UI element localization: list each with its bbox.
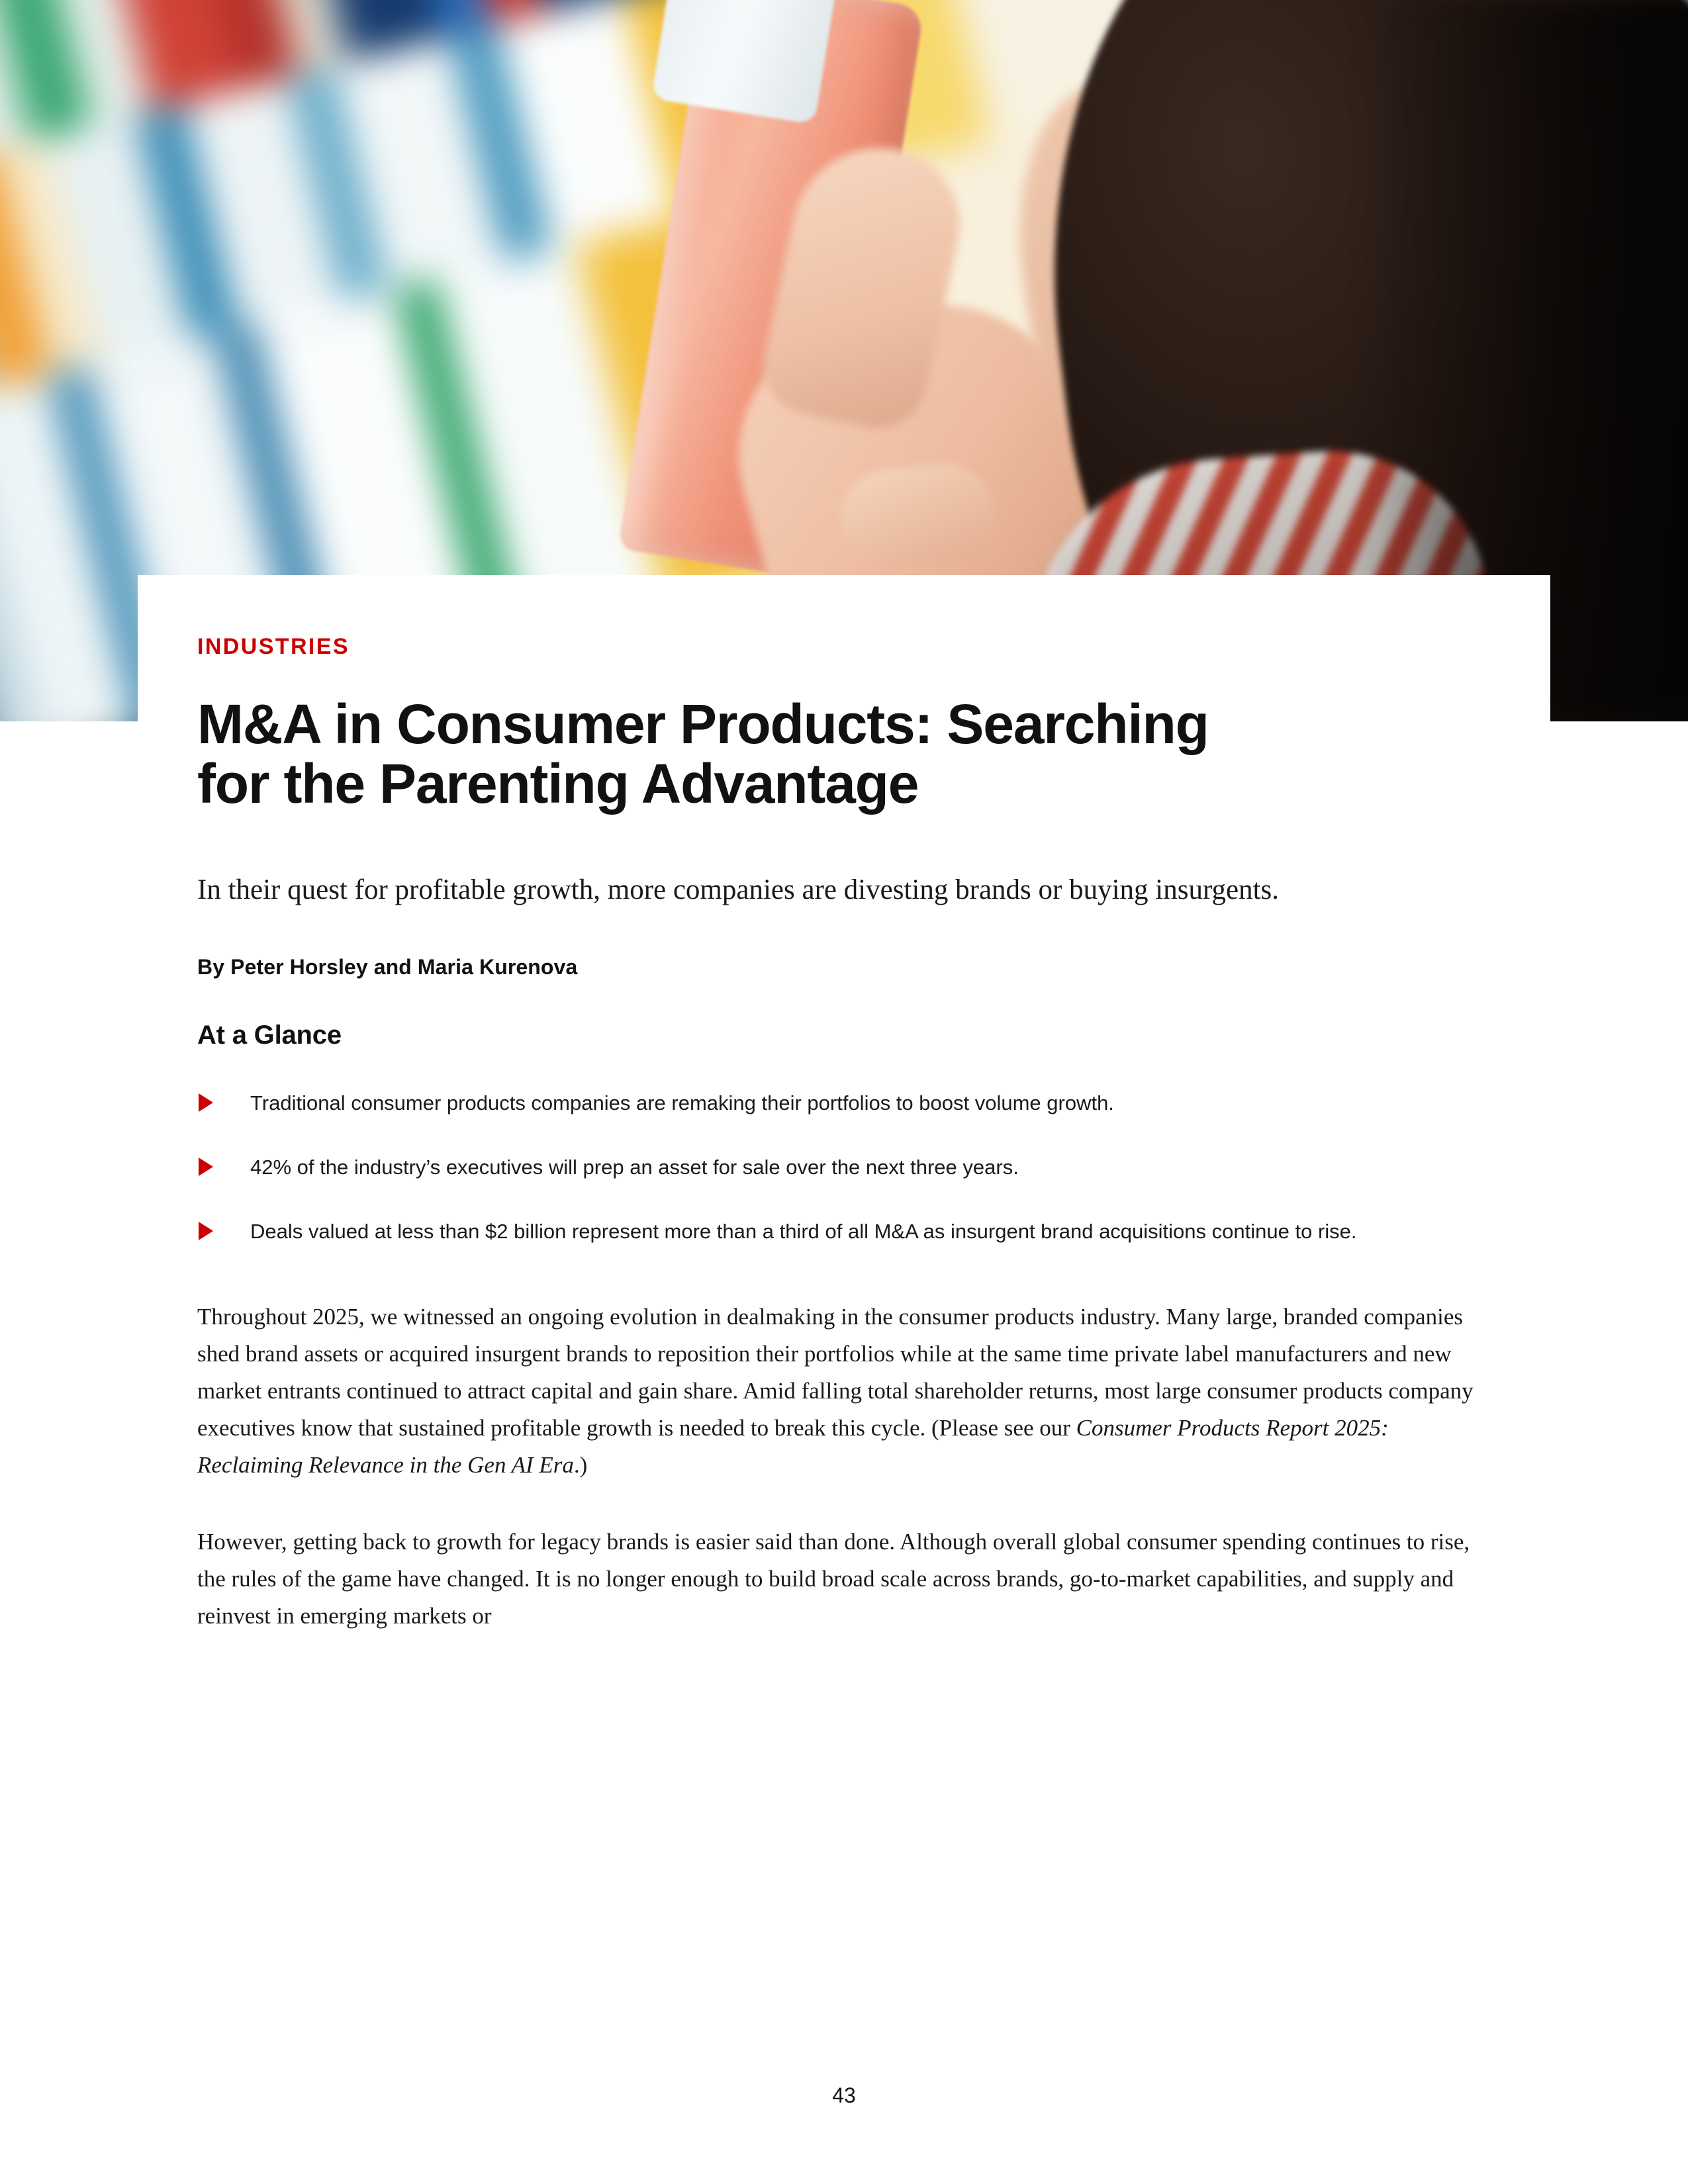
list-item: Deals valued at less than $2 billion rep… — [197, 1216, 1488, 1247]
arrow-right-icon — [199, 1093, 213, 1112]
article-content: INDUSTRIES M&A in Consumer Products: Sea… — [197, 635, 1495, 1635]
body-paragraph: Throughout 2025, we witnessed an ongoing… — [197, 1298, 1481, 1484]
page-number: 43 — [0, 2083, 1688, 2108]
at-a-glance-heading: At a Glance — [197, 1021, 1495, 1050]
list-item-label: Traditional consumer products companies … — [250, 1091, 1114, 1115]
body-paragraph: However, getting back to growth for lega… — [197, 1524, 1481, 1635]
page-title: M&A in Consumer Products: Searching for … — [197, 695, 1230, 814]
list-item: Traditional consumer products companies … — [197, 1087, 1488, 1118]
arrow-right-icon — [199, 1222, 213, 1240]
byline: By Peter Horsley and Maria Kurenova — [197, 955, 1495, 979]
list-item-label: Deals valued at less than $2 billion rep… — [250, 1220, 1357, 1243]
at-a-glance-list: Traditional consumer products companies … — [197, 1087, 1495, 1247]
list-item-label: 42% of the industry’s executives will pr… — [250, 1156, 1019, 1179]
arrow-right-icon — [199, 1158, 213, 1176]
list-item: 42% of the industry’s executives will pr… — [197, 1152, 1488, 1183]
article-deck: In their quest for profitable growth, mo… — [197, 870, 1309, 910]
category-eyebrow: INDUSTRIES — [197, 635, 1495, 658]
